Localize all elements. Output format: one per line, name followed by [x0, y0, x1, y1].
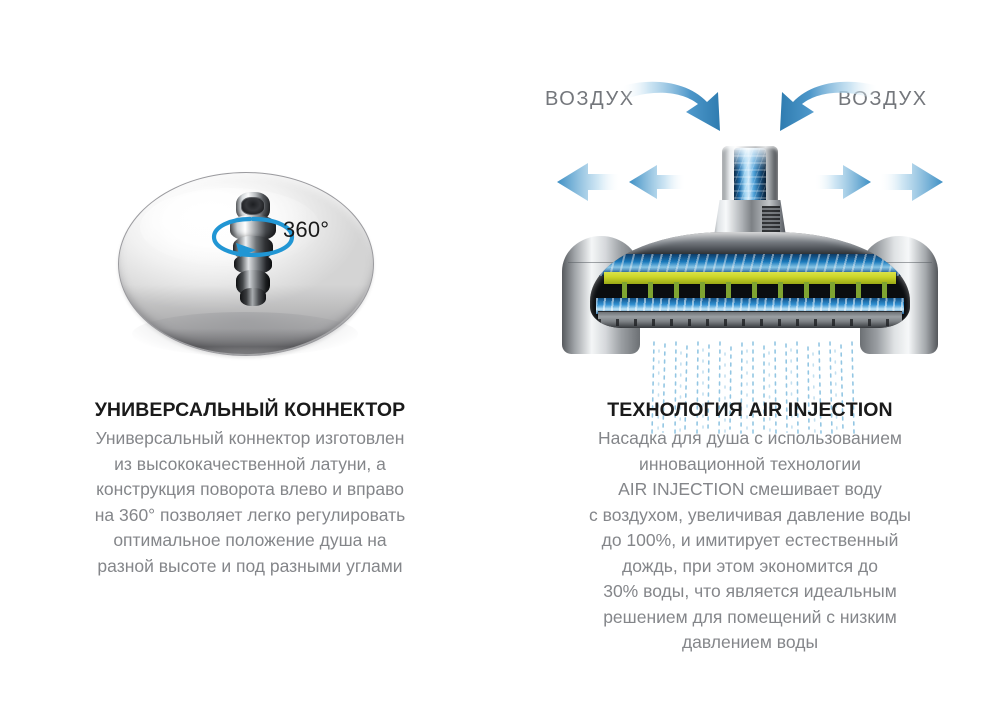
connector-tip — [240, 288, 266, 306]
rotation-degrees-label: 360° — [283, 217, 329, 243]
feature-column-universal-connector: 360° УНИВЕРСАЛЬНЫЙ КОННЕКТОР Универсальн… — [0, 0, 500, 705]
shower-disc-illustration — [118, 162, 372, 370]
product-feature-page: 360° УНИВЕРСАЛЬНЫЙ КОННЕКТОР Универсальн… — [0, 0, 1000, 705]
feature-body-universal-connector: Универсальный коннектор изготовлен из вы… — [50, 426, 450, 579]
air-label-left: ВОЗДУХ — [545, 88, 635, 111]
feature-title-air-injection: ТЕХНОЛОГИЯ AIR INJECTION — [550, 398, 950, 422]
air-label-right: ВОЗДУХ — [838, 88, 928, 111]
connector-bore — [241, 197, 265, 215]
air-injection-figure — [500, 30, 1000, 390]
feature-body-air-injection: Насадка для душа с использованием иннова… — [550, 426, 950, 656]
head-cutaway-dome — [590, 232, 910, 328]
shower-head-disc-figure: 360° — [0, 30, 500, 390]
caption-universal-connector: УНИВЕРСАЛЬНЫЙ КОННЕКТОР Универсальный ко… — [50, 398, 450, 579]
dome-nozzle-plate — [598, 311, 902, 328]
feature-title-universal-connector: УНИВЕРСАЛЬНЫЙ КОННЕКТОР — [50, 398, 450, 422]
caption-air-injection: ТЕХНОЛОГИЯ AIR INJECTION Насадка для душ… — [550, 398, 950, 656]
cutaway-shower-head-illustration — [560, 140, 940, 390]
